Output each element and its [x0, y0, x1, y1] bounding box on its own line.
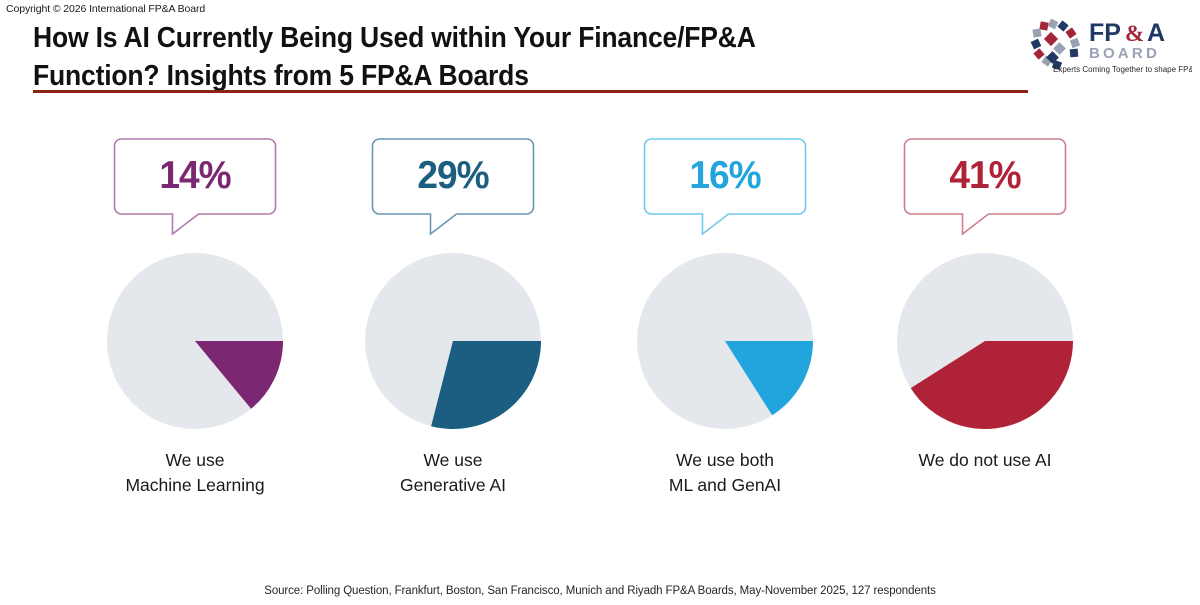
pie-chart-svg [106, 252, 284, 430]
page-title: How Is AI Currently Being Used within Yo… [33, 20, 926, 95]
logo-text-a: A [1147, 19, 1165, 47]
pie-chart-generative-ai [364, 252, 542, 430]
logo-text-ampersand: & [1125, 21, 1144, 46]
page-title-line-1: How Is AI Currently Being Used within Yo… [33, 22, 756, 54]
pie-caption-generative-ai: We use Generative AI [323, 448, 583, 498]
pie-panel-machine-learning: 14% We use Machine Learning [65, 130, 325, 540]
caption-line-2: Generative AI [323, 473, 583, 498]
copyright-notice: Copyright © 2026 International FP&A Boar… [6, 3, 205, 15]
caption-line-1: We use both [676, 450, 774, 470]
pie-panel-group: 14% We use Machine Learning 29% [0, 130, 1200, 540]
pie-panel-generative-ai: 29% We use Generative AI [323, 130, 583, 540]
caption-line-1: We use [423, 450, 482, 470]
percentage-label: 29% [376, 138, 531, 214]
percentage-label: 16% [648, 138, 803, 214]
pie-caption-both-ml-genai: We use both ML and GenAI [595, 448, 855, 498]
callout-bubble-no-ai: 41% [904, 138, 1067, 236]
logo-swirl-icon [1031, 19, 1080, 70]
slide-root: Copyright © 2026 International FP&A Boar… [0, 0, 1200, 605]
fpa-board-logo: FP & A BOARD Experts Coming Together to … [1027, 14, 1192, 80]
logo-text-fp: FP [1089, 19, 1121, 47]
pie-chart-no-ai [896, 252, 1074, 430]
percentage-label: 14% [118, 138, 273, 214]
logo-tagline: Experts Coming Together to shape FP&A Fu… [1053, 65, 1192, 74]
logo-text-board: BOARD [1089, 45, 1160, 62]
pie-chart-svg [364, 252, 542, 430]
callout-bubble-both-ml-genai: 16% [644, 138, 807, 236]
source-note: Source: Polling Question, Frankfurt, Bos… [0, 585, 1200, 597]
pie-caption-machine-learning: We use Machine Learning [65, 448, 325, 498]
fpa-board-logo-svg: FP & A BOARD Experts Coming Together to … [1027, 14, 1192, 80]
pie-panel-both-ml-genai: 16% We use both ML and GenAI [595, 130, 855, 540]
caption-line-1: We use [165, 450, 224, 470]
pie-chart-svg [636, 252, 814, 430]
callout-bubble-generative-ai: 29% [372, 138, 535, 236]
pie-chart-svg [896, 252, 1074, 430]
caption-line-1: We do not use AI [919, 450, 1052, 470]
percentage-label: 41% [908, 138, 1063, 214]
caption-line-2: ML and GenAI [595, 473, 855, 498]
slide-header: How Is AI Currently Being Used within Yo… [0, 20, 1200, 100]
pie-caption-no-ai: We do not use AI [855, 448, 1115, 473]
callout-bubble-machine-learning: 14% [114, 138, 277, 236]
pie-chart-machine-learning [106, 252, 284, 430]
pie-panel-no-ai: 41% We do not use AI [855, 130, 1115, 540]
pie-chart-both-ml-genai [636, 252, 814, 430]
page-title-line-2: Function? Insights from 5 FP&A Boards [33, 60, 529, 92]
title-underline-rule [33, 90, 1028, 93]
caption-line-2: Machine Learning [65, 473, 325, 498]
